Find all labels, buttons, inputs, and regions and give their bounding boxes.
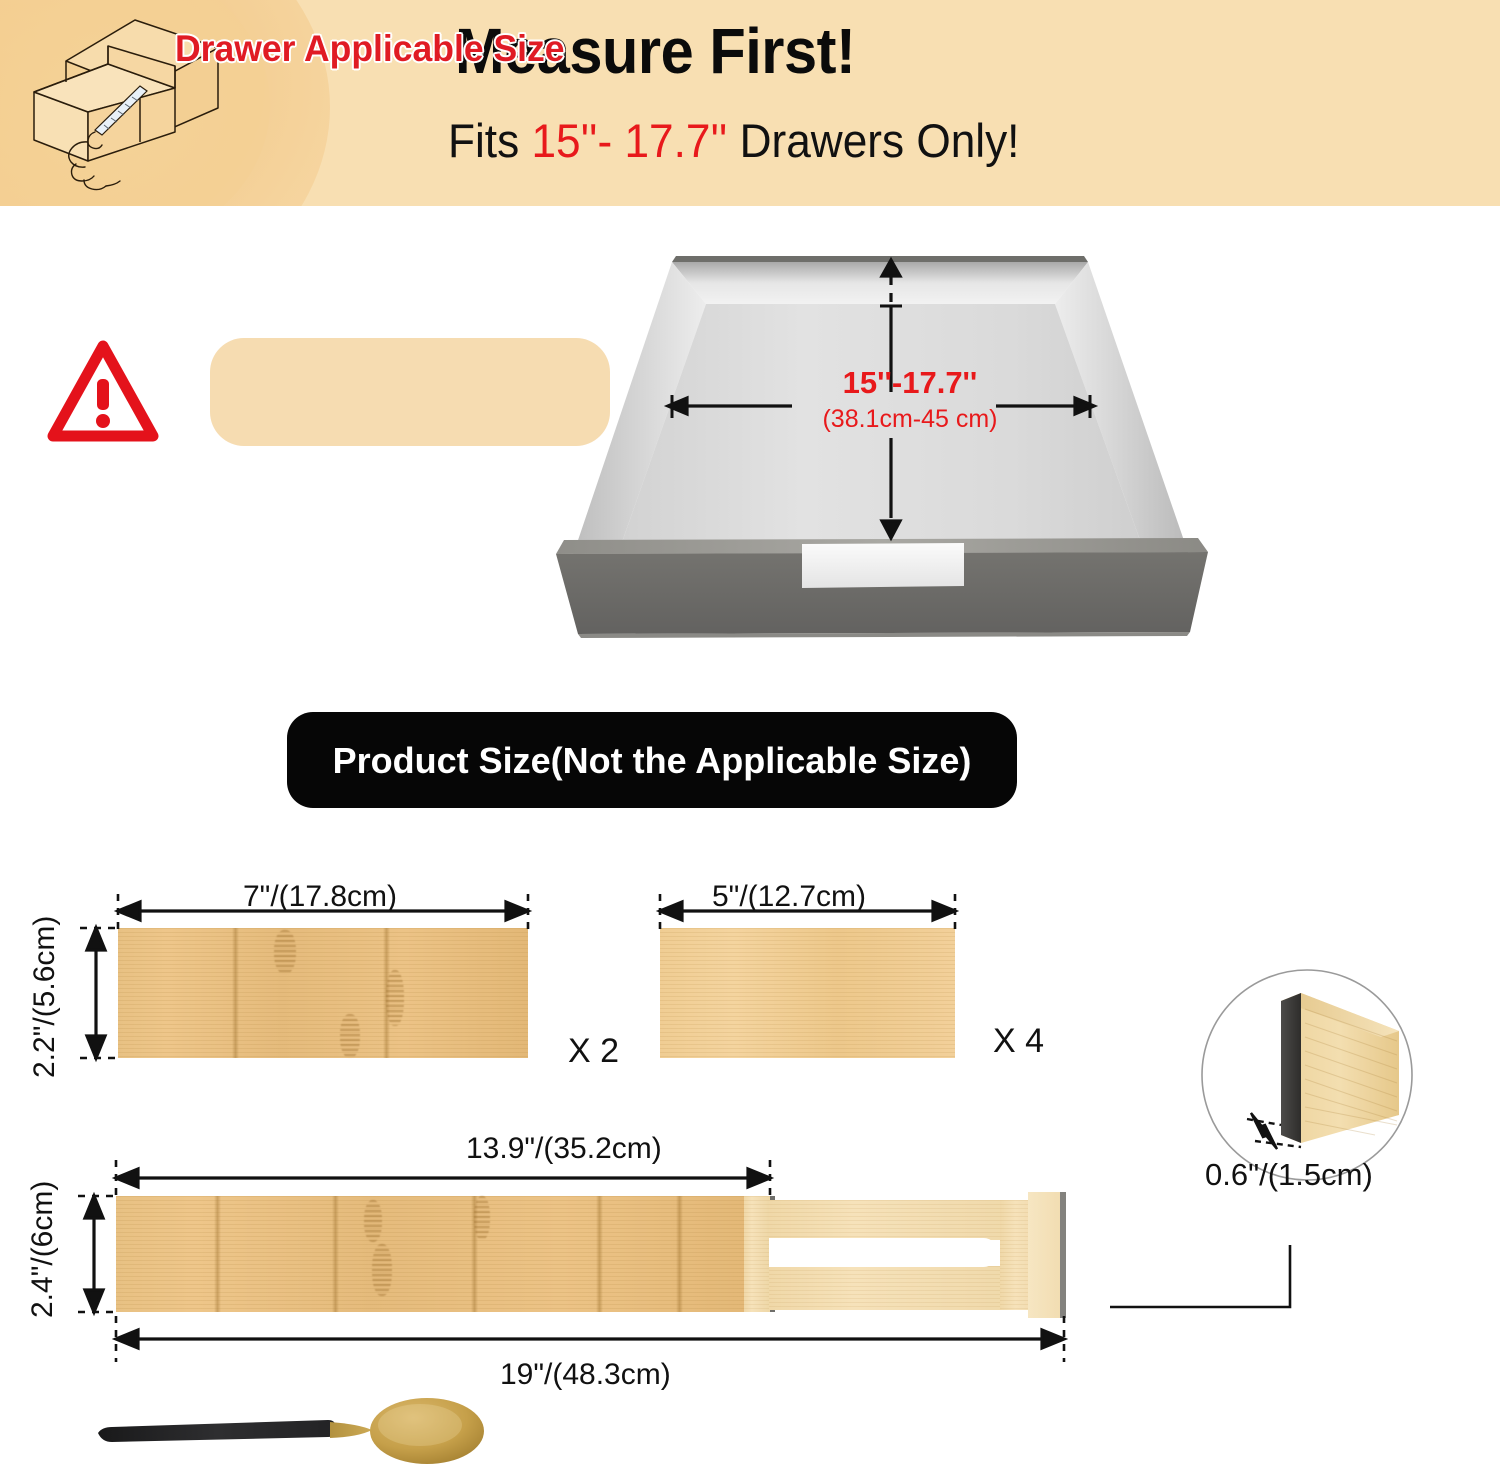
- drawer-applicable-size-diagram: [550, 240, 1230, 660]
- part-5in-width-label: 5"/(12.7cm): [712, 880, 866, 914]
- warning-badge: [50, 338, 610, 450]
- product-size-label: Product Size(Not the Applicable Size): [287, 740, 1017, 782]
- callout-leader-line: [1110, 1245, 1310, 1365]
- subtitle-range-b: 17.7'': [624, 114, 727, 167]
- gold-spoon-scale-reference: [90, 1392, 530, 1472]
- part-expandable-total-width-label: 19"/(48.3cm): [500, 1358, 671, 1392]
- warning-triangle-icon: [50, 343, 156, 441]
- warning-label: Drawer Applicable Size: [175, 28, 559, 70]
- subtitle-dash: -: [597, 114, 624, 167]
- header-subtitle: Fits 15''- 17.7'' Drawers Only!: [448, 113, 1019, 168]
- drawer-width-label: 15''-17.7'': [790, 365, 1030, 401]
- board-thickness-label: 0.6"/(1.5cm): [1205, 1157, 1373, 1193]
- drawer-width-label-metric: (38.1cm-45 cm): [780, 405, 1040, 434]
- part-7in-width-label: 7"/(17.8cm): [243, 880, 397, 914]
- subtitle-pre: Fits: [448, 114, 531, 167]
- part-expandable-body-width-label: 13.9"/(35.2cm): [466, 1132, 662, 1166]
- part-expandable-height-label: 2.4"/(6cm): [26, 1181, 60, 1318]
- part-expandable-dimension-lines: [0, 1130, 1120, 1380]
- subtitle-range-a: 15'': [531, 114, 597, 167]
- subtitle-post: Drawers Only!: [727, 114, 1019, 167]
- part-5in-quantity: X 4: [993, 1022, 1044, 1061]
- part-7in-height-label: 2.2"/(5.6cm): [28, 916, 62, 1078]
